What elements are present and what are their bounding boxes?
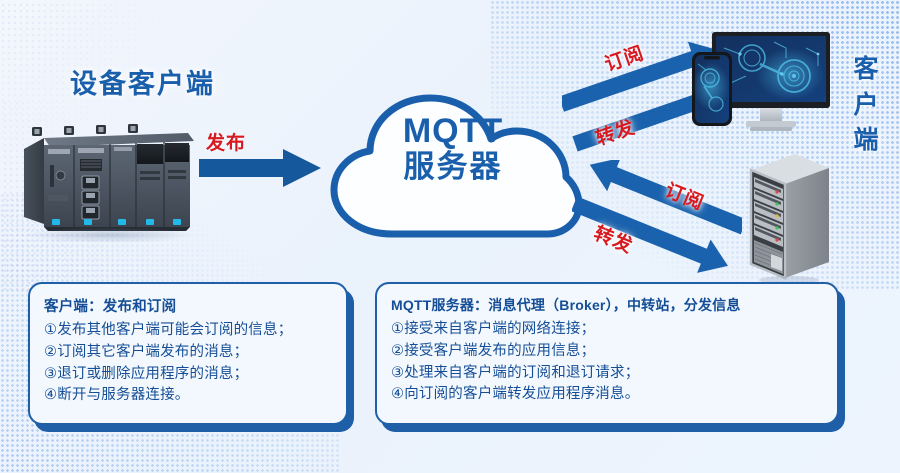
info-box-client: 客户端：发布和订阅 ①发布其他客户端可能会订阅的信息； ②订阅其它客户端发布的消… bbox=[28, 282, 348, 425]
list-item: ④断开与服务器连接。 bbox=[44, 385, 346, 407]
page-title-client-vertical: 客 户 端 bbox=[846, 52, 886, 159]
plc-shadow bbox=[24, 227, 196, 243]
client-char-3: 端 bbox=[846, 123, 886, 159]
list-item: ②订阅其它客户端发布的消息； bbox=[44, 342, 346, 364]
list-item: ③退订或删除应用程序的消息； bbox=[44, 364, 346, 386]
list-item: ②接受客户端发布的应用信息； bbox=[391, 341, 837, 363]
info-box-server-list: ①接受来自客户端的网络连接； ②接受客户端发布的应用信息； ③处理来自客户端的订… bbox=[377, 317, 837, 406]
publish-arrow-icon bbox=[199, 148, 323, 193]
list-item: ④向订阅的客户端转发应用程序消息。 bbox=[391, 384, 837, 406]
client-char-2: 户 bbox=[846, 88, 886, 124]
server-rack-icon bbox=[745, 150, 835, 285]
plc-graphic bbox=[18, 123, 198, 238]
info-box-server-header: MQTT服务器：消息代理（Broker），中转站，分发信息 bbox=[377, 284, 837, 317]
page-title-device-client: 设备客户端 bbox=[70, 62, 215, 101]
cloud-icon: MQTT 服务器 bbox=[318, 84, 588, 254]
list-item: ③处理来自客户端的订阅和退订请求； bbox=[391, 363, 837, 385]
list-item: ①发布其他客户端可能会订阅的信息； bbox=[44, 320, 346, 342]
info-box-client-list: ①发布其他客户端可能会订阅的信息； ②订阅其它客户端发布的消息； ③退订或删除应… bbox=[30, 318, 346, 407]
info-box-server: MQTT服务器：消息代理（Broker），中转站，分发信息 ①接受来自客户端的网… bbox=[375, 282, 839, 425]
mqtt-architecture-diagram: 设备客户端 客 户 端 bbox=[0, 0, 900, 473]
info-box-client-header: 客户端：发布和订阅 bbox=[30, 284, 346, 318]
client-char-1: 客 bbox=[846, 52, 886, 88]
plc-controller-icon bbox=[18, 123, 198, 238]
list-item: ①接受来自客户端的网络连接； bbox=[391, 319, 837, 341]
client-devices-group bbox=[690, 28, 840, 148]
